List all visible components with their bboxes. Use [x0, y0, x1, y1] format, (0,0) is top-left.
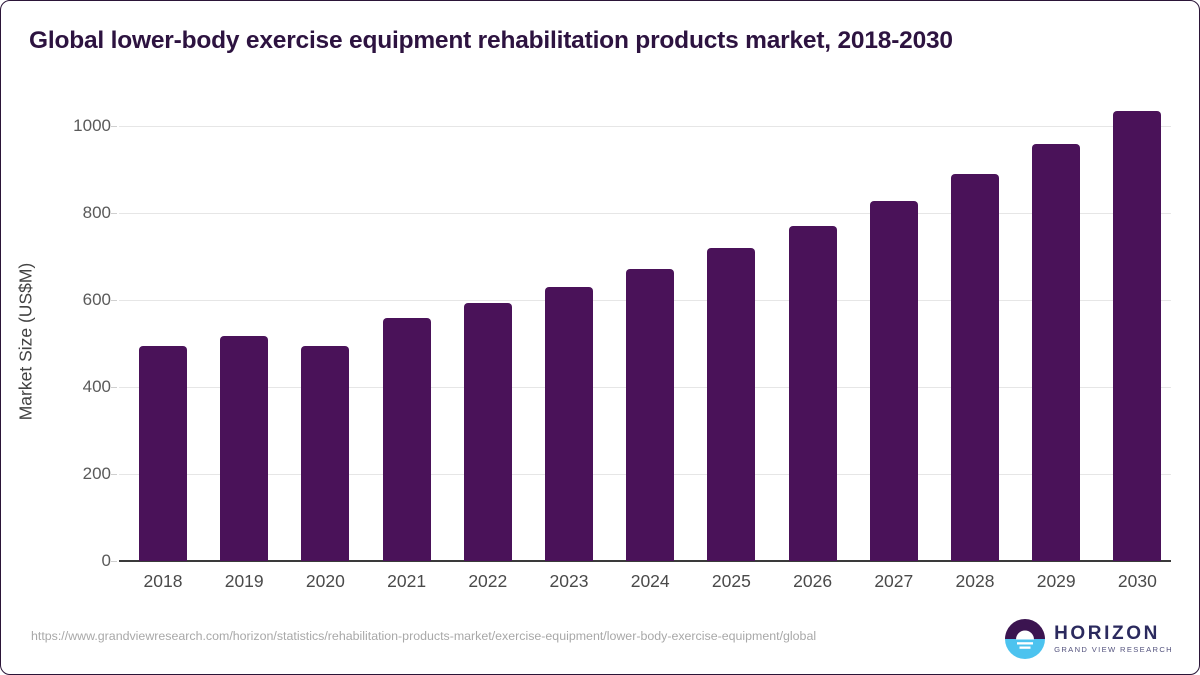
x-axis-tick-label: 2027: [854, 571, 934, 592]
x-axis-tick-label: 2029: [1016, 571, 1096, 592]
bar[interactable]: [1032, 144, 1080, 561]
bar[interactable]: [789, 226, 837, 561]
bar[interactable]: [1113, 111, 1161, 561]
bar[interactable]: [545, 287, 593, 561]
gridline: [119, 126, 1171, 127]
y-axis-tick-mark: [111, 213, 117, 214]
x-axis-tick-label: 2019: [204, 571, 284, 592]
horizon-logo-text: HORIZON GRAND VIEW RESEARCH: [1054, 624, 1173, 654]
y-axis-tick-label: 200: [31, 464, 111, 484]
x-axis-tick-label: 2020: [285, 571, 365, 592]
y-axis-tick-label: 1000: [31, 116, 111, 136]
bar[interactable]: [626, 269, 674, 561]
logo-tagline: GRAND VIEW RESEARCH: [1054, 646, 1173, 654]
x-axis-tick-label: 2030: [1097, 571, 1177, 592]
bar[interactable]: [464, 303, 512, 561]
gridline: [119, 213, 1171, 214]
x-axis-tick-label: 2024: [610, 571, 690, 592]
y-axis-tick-mark: [111, 561, 117, 562]
source-url[interactable]: https://www.grandviewresearch.com/horizo…: [31, 628, 936, 645]
horizon-logo: HORIZON GRAND VIEW RESEARCH: [1005, 619, 1173, 659]
x-axis-tick-label: 2018: [123, 571, 203, 592]
bar[interactable]: [301, 346, 349, 561]
y-axis-tick-label: 0: [31, 551, 111, 571]
bar[interactable]: [951, 174, 999, 561]
y-axis-tick-mark: [111, 126, 117, 127]
chart-page: Global lower-body exercise equipment reh…: [0, 0, 1200, 675]
bar[interactable]: [870, 201, 918, 561]
bar[interactable]: [707, 248, 755, 561]
x-axis-tick-label: 2021: [367, 571, 447, 592]
y-axis-title: Market Size (US$M): [16, 142, 37, 542]
y-axis-tick-mark: [111, 387, 117, 388]
logo-wordmark: HORIZON: [1054, 624, 1173, 643]
bar[interactable]: [139, 346, 187, 561]
x-axis-tick-label: 2026: [773, 571, 853, 592]
horizon-logo-icon: [1005, 619, 1045, 659]
bar[interactable]: [220, 336, 268, 561]
x-axis-tick-label: 2022: [448, 571, 528, 592]
y-axis-tick-label: 400: [31, 377, 111, 397]
y-axis-tick-mark: [111, 474, 117, 475]
page-title: Global lower-body exercise equipment reh…: [29, 27, 1169, 55]
x-axis-tick-label: 2025: [691, 571, 771, 592]
x-axis-tick-label: 2023: [529, 571, 609, 592]
y-axis-tick-mark: [111, 300, 117, 301]
x-axis-tick-label: 2028: [935, 571, 1015, 592]
y-axis-tick-label: 600: [31, 290, 111, 310]
bar[interactable]: [383, 318, 431, 561]
y-axis-tick-label: 800: [31, 203, 111, 223]
